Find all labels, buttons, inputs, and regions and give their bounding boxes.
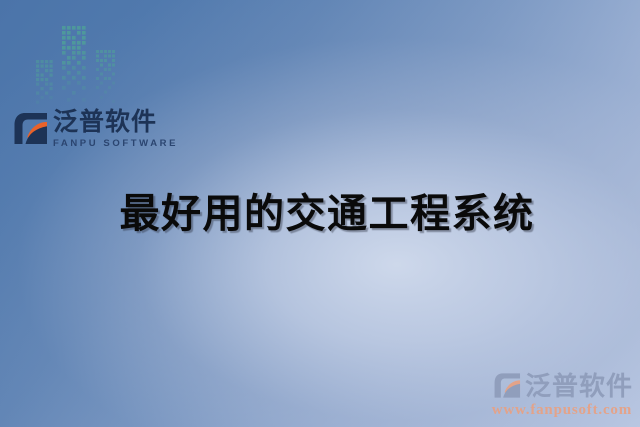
watermark-logo-row: 泛普软件	[494, 371, 633, 400]
brand-name-cn: 泛普软件	[53, 109, 178, 136]
watermark-brand-cn: 泛普软件	[525, 373, 633, 399]
headline-text: 最好用的交通工程系统	[0, 181, 640, 239]
watermark: 泛普软件 www.fanpusoft.com	[492, 371, 633, 419]
brand-name-en: FANPU SOFTWARE	[53, 139, 178, 149]
watermark-url: www.fanpusoft.com	[492, 402, 632, 419]
fanpu-logo-mark-icon	[14, 110, 48, 147]
brand-logo: 泛普软件 FANPU SOFTWARE	[14, 109, 178, 148]
fanpu-watermark-mark-icon	[494, 371, 521, 400]
promo-banner: 泛普软件 FANPU SOFTWARE 最好用的交通工程系统 泛普软件 www.…	[0, 0, 640, 427]
pixel-skyline-decoration	[34, 14, 154, 112]
